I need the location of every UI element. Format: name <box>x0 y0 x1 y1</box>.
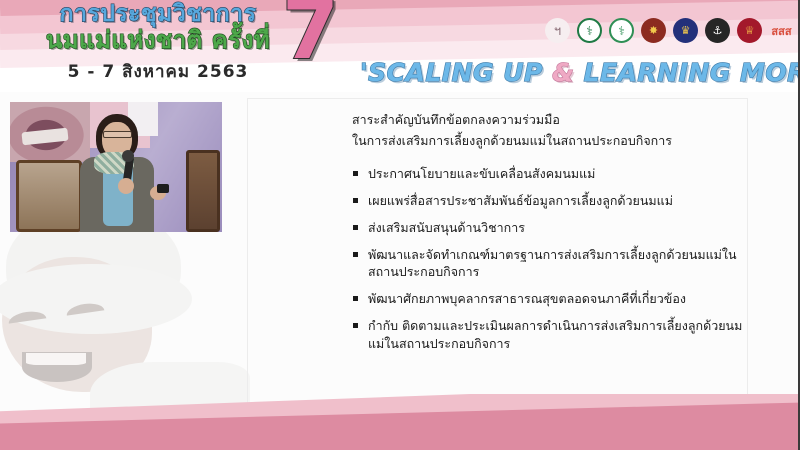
conference-edition-number: 7 <box>282 0 339 72</box>
speaker-video-feed[interactable] <box>10 102 222 232</box>
thaihealth-sss-logo: สสส <box>769 18 794 43</box>
red-crest-logo: ♕ <box>737 18 762 43</box>
list-item: ส่งเสริมสนับสนุนด้านวิชาการ <box>352 219 752 237</box>
royal-emblem-logo: ฯ <box>545 18 570 43</box>
conference-title-block: การประชุมวิชาการ นมแม่แห่งชาติ ครั้งที่ … <box>8 2 308 85</box>
list-item: พัฒนาและจัดทำเกณฑ์มาตรฐานการส่งเสริมการเ… <box>352 246 752 282</box>
presentation-slide: การประชุมวิชาการ นมแม่แห่งชาติ ครั้งที่ … <box>0 0 800 450</box>
conference-title-line-2: นมแม่แห่งชาติ ครั้งที่ <box>8 28 308 54</box>
content-panel-left-border <box>247 98 248 423</box>
video-chair-right <box>186 150 220 232</box>
footer-banner-base <box>0 440 800 450</box>
list-item: กำกับ ติดตามและประเมินผลการดำเนินการส่งเ… <box>352 317 752 353</box>
content-panel-top-border <box>247 98 747 99</box>
tagline-ampersand: & <box>552 58 574 87</box>
video-speaker-hand-left <box>118 178 134 194</box>
tagline-open-quote: ' <box>360 58 368 87</box>
list-item: พัฒนาศักยภาพบุคลากรสาธารณสุขตลอดจนภาคีที… <box>352 290 752 308</box>
slide-header: การประชุมวิชาการ นมแม่แห่งชาติ ครั้งที่ … <box>0 0 800 92</box>
tagline-text-part-1: SCALING UP <box>368 58 552 87</box>
video-speaker-glasses <box>103 131 132 138</box>
content-heading-line-1: สาระสำคัญบันทึกข้อตกลงความร่วมมือ <box>352 110 752 131</box>
watermark-hat-brim <box>0 264 192 334</box>
tagline-text-part-2: LEARNING MORE <box>574 58 800 87</box>
content-heading-line-2: ในการส่งเสริมการเลี้ยงลูกด้วยนมแม่ในสถาน… <box>352 131 752 152</box>
watermark-teeth <box>26 353 86 365</box>
conference-title-line-1: การประชุมวิชาการ <box>8 2 308 27</box>
sponsor-logo-row: ฯ ⚕ ⚕ ✸ ♛ ⚓ ♕ สสส <box>545 18 794 43</box>
ministry-public-health-logo-2: ⚕ <box>609 18 634 43</box>
black-circle-emblem-logo: ⚓ <box>705 18 730 43</box>
video-presenter-remote <box>157 184 169 193</box>
list-item: เผยแพร่สื่อสารประชาสัมพันธ์ข้อมูลการเลี้… <box>352 192 752 210</box>
video-chair-left <box>16 160 82 232</box>
conference-date: 5 - 7 สิงหาคม 2563 <box>8 58 308 85</box>
conference-tagline: 'SCALING UP & LEARNING MORE' <box>360 58 790 87</box>
royal-crest-logo-red: ✸ <box>641 18 666 43</box>
slide-footer-banner <box>0 394 800 450</box>
content-bullet-list: ประกาศนโยบายและขับเคลื่อนสังคมนมแม่ เผยแ… <box>352 165 752 352</box>
video-microphone-head <box>122 150 134 162</box>
content-panel: สาระสำคัญบันทึกข้อตกลงความร่วมมือ ในการส… <box>352 110 752 361</box>
list-item: ประกาศนโยบายและขับเคลื่อนสังคมนมแม่ <box>352 165 752 183</box>
garuda-emblem-logo: ♛ <box>673 18 698 43</box>
ministry-public-health-logo-1: ⚕ <box>577 18 602 43</box>
